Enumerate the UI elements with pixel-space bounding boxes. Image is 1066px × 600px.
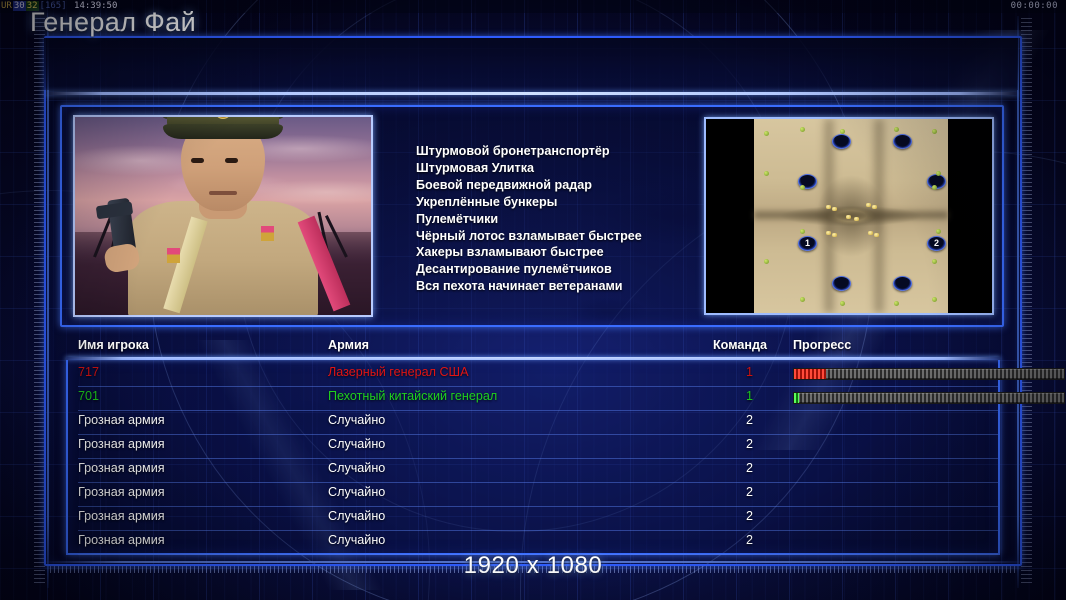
supply-dock-icon — [800, 185, 805, 190]
supply-dock-icon — [800, 297, 805, 302]
map-start-position-1: 1 — [798, 236, 817, 251]
cell-player-name: 701 — [78, 389, 99, 403]
cell-team: 2 — [746, 533, 753, 547]
oil-derrick-icon — [854, 217, 859, 221]
cell-army: Случайно — [328, 437, 385, 451]
cell-player-name: Грозная армия — [78, 509, 165, 523]
cell-team: 2 — [746, 509, 753, 523]
right-ruler-strip — [1021, 18, 1032, 584]
portrait-mouth — [209, 191, 237, 195]
table-row[interactable]: Грозная армияСлучайно2 — [78, 483, 998, 507]
general-portrait — [73, 115, 373, 317]
supply-dock-icon — [932, 129, 937, 134]
supply-dock-icon — [932, 259, 937, 264]
ability-item: Пулемётчики — [416, 211, 696, 228]
portrait-eye — [191, 158, 204, 163]
cell-team: 2 — [746, 461, 753, 475]
supply-dock-icon — [894, 127, 899, 132]
map-start-position — [832, 276, 851, 291]
cell-team: 1 — [746, 365, 753, 379]
supply-dock-icon — [800, 127, 805, 132]
player-table-body: 717Лазерный генерал США1701Пехотный кита… — [78, 363, 998, 555]
ability-item: Штурмовая Улитка — [416, 160, 696, 177]
table-row[interactable]: Грозная армияСлучайно2 — [78, 459, 998, 483]
page-title: Генерал Фай — [30, 7, 196, 38]
ability-item: Штурмовой бронетранспортёр — [416, 143, 696, 160]
supply-dock-icon — [932, 297, 937, 302]
medal-icon — [261, 226, 274, 241]
cell-player-name: Грозная армия — [78, 413, 165, 427]
cell-player-name: Грозная армия — [78, 437, 165, 451]
table-row[interactable]: 717Лазерный генерал США1 — [78, 363, 998, 387]
cell-army: Случайно — [328, 413, 385, 427]
oil-derrick-icon — [846, 215, 851, 219]
title-divider — [44, 92, 1018, 95]
map-river-horizontal — [754, 211, 948, 219]
oil-derrick-icon — [868, 231, 873, 235]
map-start-position-2: 2 — [927, 236, 946, 251]
progress-bar-fill — [794, 393, 799, 403]
cell-team: 1 — [746, 389, 753, 403]
ability-item: Хакеры взламывают быстрее — [416, 244, 696, 261]
resolution-label: 1920 x 1080 — [0, 552, 1066, 580]
column-header-army: Армия — [328, 338, 369, 352]
oil-derrick-icon — [826, 205, 831, 209]
cell-player-name: Грозная армия — [78, 461, 165, 475]
ability-item: Укреплённые бункеры — [416, 194, 696, 211]
cell-army: Случайно — [328, 509, 385, 523]
portrait-cap-brim — [163, 124, 283, 139]
supply-dock-icon — [932, 185, 937, 190]
map-start-position — [832, 134, 851, 149]
match-timer: 00:00:00 — [1011, 0, 1058, 13]
oil-derrick-icon — [832, 233, 837, 237]
ability-item: Боевой передвижной радар — [416, 177, 696, 194]
progress-bar — [793, 368, 1065, 380]
table-row[interactable]: 701Пехотный китайский генерал1 — [78, 387, 998, 411]
game-screen: UR3032[165] 14:39:50 00:00:00 Генерал Фа… — [0, 0, 1066, 600]
cell-army: Случайно — [328, 485, 385, 499]
progress-bar-fill — [794, 369, 826, 379]
map-path-vertical — [874, 119, 884, 313]
supply-dock-icon — [936, 171, 941, 176]
cell-team: 2 — [746, 437, 753, 451]
table-row[interactable]: Грозная армияСлучайно2 — [78, 435, 998, 459]
player-table-header: Имя игрока Армия Команда Прогресс — [78, 338, 998, 356]
cell-player-name: Грозная армия — [78, 485, 165, 499]
supply-dock-icon — [840, 129, 845, 134]
supply-dock-icon — [936, 229, 941, 234]
oil-derrick-icon — [872, 205, 877, 209]
status-value-a: 30 — [13, 1, 26, 11]
supply-dock-icon — [764, 259, 769, 264]
medal-icon — [167, 248, 180, 263]
map-preview[interactable]: 12 — [704, 117, 994, 315]
progress-bar — [793, 392, 1065, 404]
oil-derrick-icon — [826, 231, 831, 235]
oil-derrick-icon — [874, 233, 879, 237]
title-band — [44, 38, 1018, 90]
column-header-team: Команда — [713, 338, 767, 352]
supply-dock-icon — [764, 171, 769, 176]
table-row[interactable]: Грозная армияСлучайно2 — [78, 507, 998, 531]
cell-team: 2 — [746, 485, 753, 499]
cell-army: Пехотный китайский генерал — [328, 389, 497, 403]
map-start-position — [893, 134, 912, 149]
ability-item: Вся пехота начинает ветеранами — [416, 278, 696, 295]
general-abilities-list: Штурмовой бронетранспортёр Штурмовая Ули… — [416, 143, 696, 295]
map-start-position — [893, 276, 912, 291]
ability-item: Десантирование пулемётчиков — [416, 261, 696, 278]
column-header-name: Имя игрока — [78, 338, 149, 352]
supply-dock-icon — [894, 301, 899, 306]
oil-derrick-icon — [832, 207, 837, 211]
supply-dock-icon — [764, 131, 769, 136]
status-tag: UR — [0, 1, 13, 11]
supply-dock-icon — [800, 229, 805, 234]
cell-army: Случайно — [328, 533, 385, 547]
oil-derrick-icon — [866, 203, 871, 207]
cell-army: Случайно — [328, 461, 385, 475]
portrait-eye — [225, 158, 238, 163]
cell-team: 2 — [746, 413, 753, 427]
cell-player-name: Грозная армия — [78, 533, 165, 547]
cell-army: Лазерный генерал США — [328, 365, 468, 379]
table-row[interactable]: Грозная армияСлучайно2 — [78, 411, 998, 435]
cell-player-name: 717 — [78, 365, 99, 379]
column-header-progress: Прогресс — [793, 338, 851, 352]
supply-dock-icon — [840, 301, 845, 306]
ability-item: Чёрный лотос взламывает быстрее — [416, 228, 696, 245]
